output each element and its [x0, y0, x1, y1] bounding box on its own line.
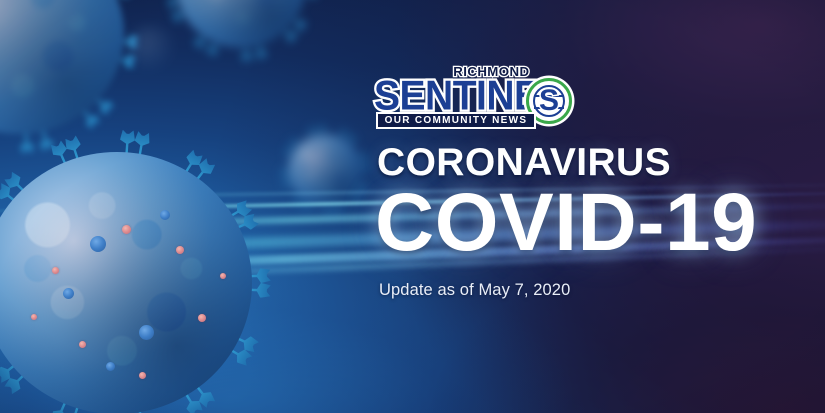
logo-tagline-text: OUR COMMUNITY NEWS: [385, 115, 528, 126]
richmond-sentinel-logo[interactable]: RICHMOND SENTINEL S OUR COMMUNITY NEWS: [374, 64, 572, 136]
update-date-text: Update as of May 7, 2020: [379, 281, 570, 300]
banner-content: RICHMOND SENTINEL S OUR COMMUNITY NEWS C…: [0, 0, 825, 413]
covid-update-banner: RICHMOND SENTINEL S OUR COMMUNITY NEWS C…: [0, 0, 825, 413]
logo-tagline-bar: OUR COMMUNITY NEWS: [376, 112, 536, 129]
headline-title: COVID-19: [375, 182, 757, 264]
